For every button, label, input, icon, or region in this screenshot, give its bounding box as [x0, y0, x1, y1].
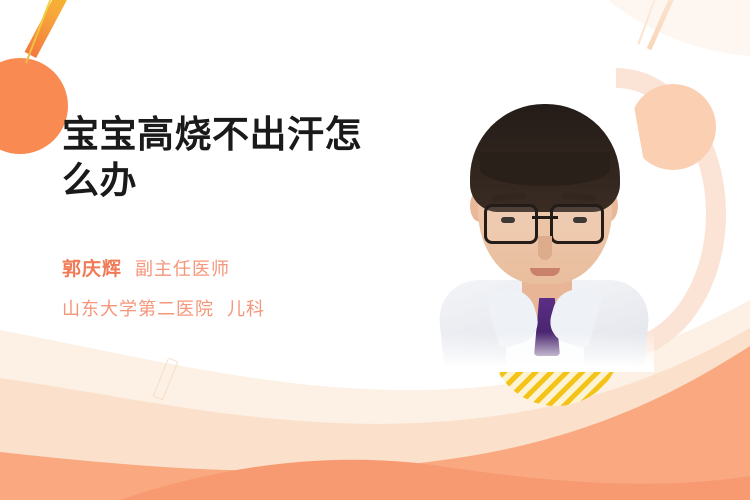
orange-circle-decoration — [0, 58, 68, 154]
doctor-portrait — [434, 72, 654, 372]
peach-diagonal-stripe-icon — [647, 0, 678, 50]
nose — [538, 236, 552, 260]
credentials-line-name: 郭庆辉 副主任医师 — [62, 254, 422, 281]
eyeglasses-bridge — [532, 216, 558, 219]
text-block: 宝宝高烧不出汗怎 么办 郭庆辉 副主任医师 山东大学第二医院 儿科 — [62, 112, 422, 321]
page-title: 宝宝高烧不出汗怎 么办 — [62, 112, 422, 204]
orange-diagonal-stripe-icon — [25, 0, 77, 58]
portrait-cluster — [428, 62, 728, 392]
credentials-line-hospital: 山东大学第二医院 儿科 — [62, 295, 422, 321]
eyeglasses-right-lens — [550, 204, 604, 244]
doctor-name: 郭庆辉 — [62, 254, 122, 281]
hair-fringe — [480, 152, 610, 186]
hospital-name: 山东大学第二医院 — [62, 295, 214, 321]
outlined-slash-decoration — [153, 357, 179, 400]
peach-diagonal-line-icon — [637, 0, 660, 44]
yellow-diagonal-line-icon — [25, 0, 57, 64]
mouth — [530, 268, 560, 276]
department-name: 儿科 — [227, 295, 265, 321]
portrait-fade-overlay — [434, 332, 654, 372]
eyeglasses-left-lens — [484, 204, 538, 244]
doctor-credentials: 郭庆辉 副主任医师 山东大学第二医院 儿科 — [62, 254, 422, 321]
doctor-rank: 副主任医师 — [135, 255, 230, 281]
doctor-topic-card: 宝宝高烧不出汗怎 么办 郭庆辉 副主任医师 山东大学第二医院 儿科 — [0, 0, 750, 500]
